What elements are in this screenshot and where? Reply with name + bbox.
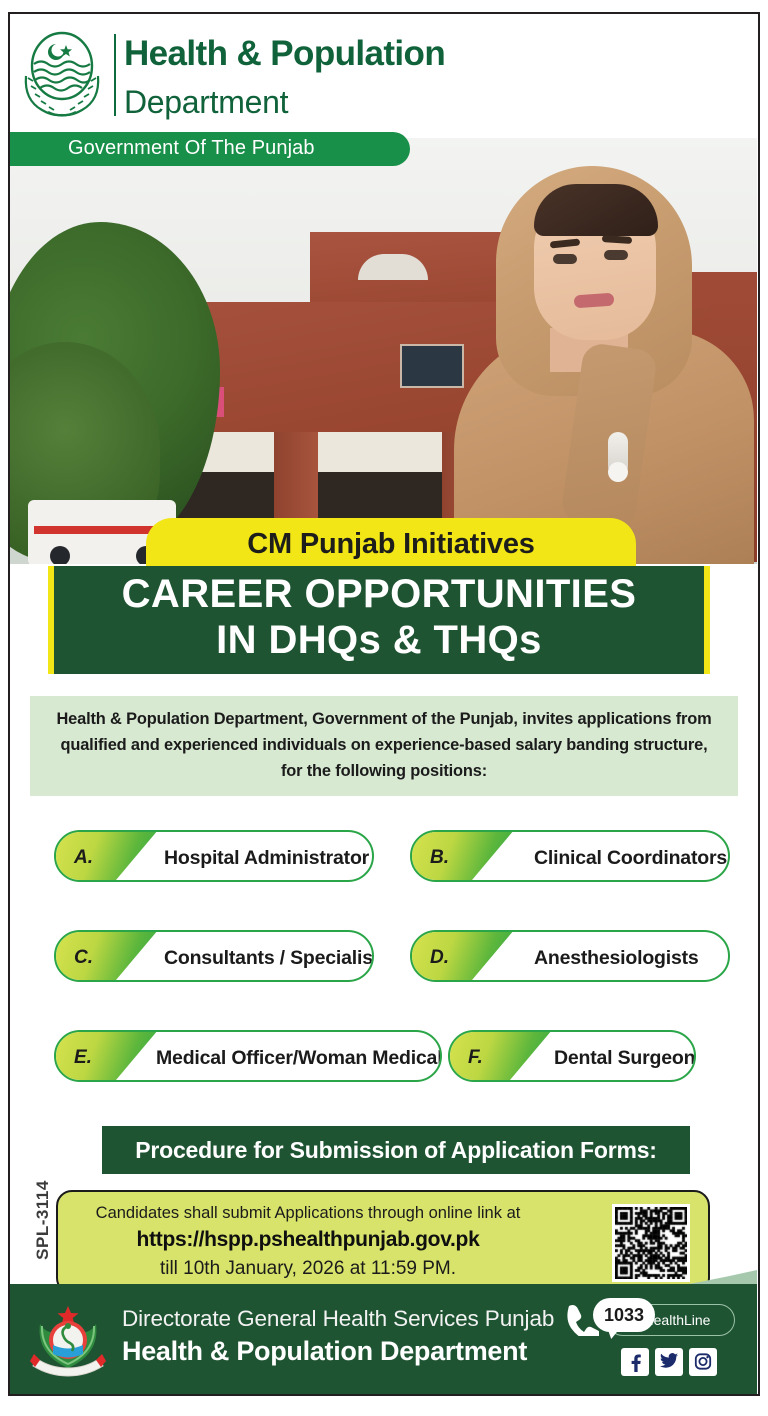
position-letter: D.	[430, 932, 449, 982]
portrait-eye	[604, 250, 628, 260]
position-item-d[interactable]: D. Anesthesiologists	[410, 930, 730, 982]
punjab-government-emblem-icon	[18, 28, 106, 120]
instagram-icon[interactable]	[689, 1348, 717, 1376]
twitter-icon[interactable]	[655, 1348, 683, 1376]
position-letter-cap	[410, 830, 514, 882]
social-links	[583, 1348, 715, 1378]
ribbon-label: Government Of The Punjab	[68, 137, 315, 160]
position-item-a[interactable]: A. Hospital Administrator	[54, 830, 374, 882]
position-letter: E.	[74, 1032, 92, 1082]
position-letter-cap	[448, 1030, 552, 1082]
position-letter-cap	[410, 930, 514, 982]
brand-title-line2: Department	[124, 86, 288, 118]
job-advertisement-poster: SPL-3114 Hea	[0, 0, 768, 1416]
cm-initiatives-banner: CM Punjab Initiatives	[146, 518, 636, 570]
position-letter-cap	[54, 1030, 158, 1082]
position-label: Anesthesiologists	[534, 932, 699, 982]
healthline-badge[interactable]: HealthLine 1033	[563, 1298, 735, 1342]
brand-title-line1: Health & Population	[124, 36, 445, 71]
portrait-lips	[574, 293, 615, 309]
position-letter: F.	[468, 1032, 483, 1082]
position-label: Hospital Administrator	[164, 832, 369, 882]
position-item-f[interactable]: F. Dental Surgeon	[448, 1030, 696, 1082]
footer-line2: Health & Population Department	[122, 1336, 527, 1367]
position-letter-cap	[54, 830, 158, 882]
position-letter: C.	[74, 932, 93, 982]
portrait-brooch	[608, 432, 628, 476]
portrait-eye	[553, 254, 577, 264]
position-label: Clinical Coordinators	[534, 832, 727, 882]
position-item-b[interactable]: B. Clinical Coordinators	[410, 830, 730, 882]
portrait-hair	[534, 184, 658, 236]
position-item-c[interactable]: C. Consultants / Specialists	[54, 930, 374, 982]
poster-footer: Directorate General Health Services Punj…	[10, 1284, 757, 1394]
position-letter: A.	[74, 832, 93, 882]
application-url[interactable]: https://hspp.pshealthpunjab.gov.pk	[78, 1228, 538, 1252]
ambulance-wheel	[50, 546, 70, 564]
ribbon-tail	[362, 132, 410, 166]
helpline-number-bubble: 1033	[593, 1298, 655, 1332]
position-letter-cap	[54, 930, 158, 982]
footer-line1: Directorate General Health Services Punj…	[122, 1306, 554, 1332]
position-letter: B.	[430, 832, 449, 882]
main-title-line2: IN DHQs & THQs	[54, 618, 704, 663]
helpline-number: 1033	[593, 1298, 655, 1332]
intro-paragraph: Health & Population Department, Governme…	[48, 706, 720, 784]
positions-list: A. Hospital Administrator B. Clinical Co…	[10, 826, 757, 1114]
spl-reference-code: SPL-3114	[33, 1165, 53, 1275]
official-portrait	[422, 132, 757, 564]
procedure-instruction: Candidates shall submit Applications thr…	[78, 1204, 538, 1223]
position-label: Consultants / Specialists	[164, 932, 374, 982]
position-label: Dental Surgeon	[554, 1032, 695, 1082]
facebook-icon[interactable]	[621, 1348, 649, 1376]
cm-initiatives-label: CM Punjab Initiatives	[146, 518, 636, 570]
poster-header: Health & Population Department	[10, 14, 757, 138]
main-title-line1: CAREER OPPORTUNITIES	[54, 572, 704, 617]
dghs-punjab-emblem-icon	[28, 1298, 108, 1380]
intro-paragraph-box: Health & Population Department, Governme…	[30, 696, 738, 796]
position-item-e[interactable]: E. Medical Officer/Woman Medical Officer	[54, 1030, 442, 1082]
hero-photo	[10, 132, 757, 564]
poster-frame: SPL-3114 Hea	[8, 12, 760, 1396]
main-title-box: CAREER OPPORTUNITIES IN DHQs & THQs	[48, 566, 710, 674]
procedure-heading: Procedure for Submission of Application …	[102, 1126, 690, 1174]
position-label: Medical Officer/Woman Medical Officer	[156, 1032, 442, 1082]
brand-divider	[114, 34, 116, 116]
government-ribbon: Government Of The Punjab	[10, 132, 410, 166]
procedure-heading-bar: Procedure for Submission of Application …	[102, 1126, 690, 1174]
